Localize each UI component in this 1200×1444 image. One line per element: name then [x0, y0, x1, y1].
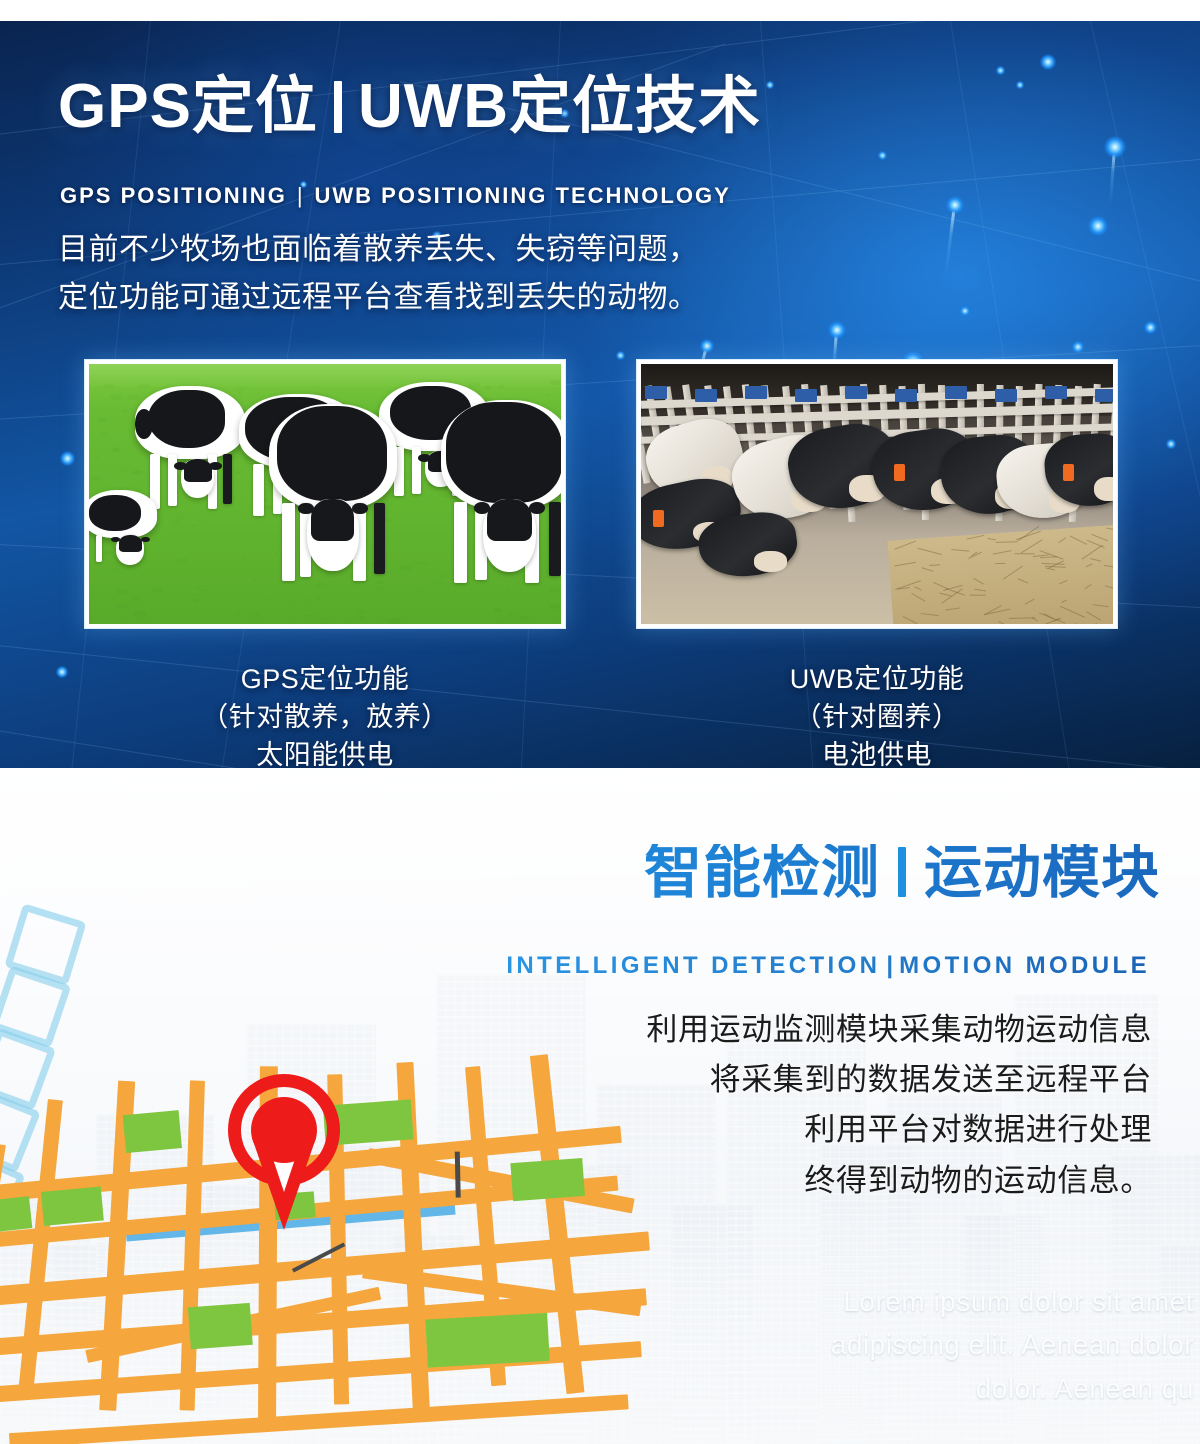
promo-page: GPS定位UWB定位技术 GPS POSITIONING|UWB POSITIO… [0, 0, 1200, 1444]
uwb-photo-barn [636, 359, 1118, 629]
motion-body-line-3: 利用平台对数据进行处理 [0, 1105, 1152, 1155]
gps-photo-caption: GPS定位功能 （针对散养，放养） 太阳能供电 [84, 661, 566, 768]
gps-heading-en: GPS POSITIONING|UWB POSITIONING TECHNOLO… [60, 183, 731, 209]
motion-heading-cn-left: 智能检测 [644, 840, 880, 905]
motion-heading-en-separator: | [886, 952, 893, 979]
uwb-photo-barn-image [641, 364, 1113, 624]
gps-caption-line-1: GPS定位功能 [84, 661, 566, 699]
motion-body-line-1: 利用运动监测模块采集动物运动信息 [0, 1005, 1152, 1055]
gps-photo-pasture [84, 359, 566, 629]
uwb-caption-line-2: （针对圈养） [636, 699, 1118, 737]
gps-photo-pasture-image [89, 364, 561, 624]
motion-body-line-2: 将采集到的数据发送至远程平台 [0, 1055, 1152, 1105]
uwb-photo-caption: UWB定位功能 （针对圈养） 电池供电 [636, 661, 1118, 768]
motion-body-line-4: 终得到动物的运动信息。 [0, 1156, 1152, 1206]
motion-heading-en-left: INTELLIGENT DETECTION [506, 952, 880, 979]
gps-caption-line-2: （针对散养，放养） [84, 699, 566, 737]
barn-illustration [641, 364, 1113, 624]
heading-divider-bar [334, 81, 342, 133]
gps-heading-en-left: GPS POSITIONING [60, 183, 287, 208]
uwb-caption-line-3: 电池供电 [636, 737, 1118, 768]
uwb-caption-line-1: UWB定位功能 [636, 661, 1118, 699]
gps-positioning-section: GPS定位UWB定位技术 GPS POSITIONING|UWB POSITIO… [0, 21, 1200, 768]
gps-paragraph-line-2: 定位功能可通过远程平台查看找到丢失的动物。 [58, 274, 699, 322]
pasture-illustration [89, 364, 561, 624]
top-white-strip [0, 0, 1200, 21]
motion-body-text: 利用运动监测模块采集动物运动信息 将采集到的数据发送至远程平台 利用平台对数据进… [0, 1005, 1152, 1206]
motion-heading-cn: 智能检测运动模块 [0, 844, 1160, 902]
gps-heading-en-right: UWB POSITIONING TECHNOLOGY [315, 183, 731, 208]
motion-heading-cn-right: 运动模块 [924, 840, 1160, 905]
gps-paragraph: 目前不少牧场也面临着散养丢失、失窃等问题， 定位功能可通过远程平台查看找到丢失的… [58, 226, 699, 322]
pasture-horizon [89, 364, 561, 387]
motion-heading-en-right: MOTION MODULE [899, 952, 1150, 979]
gps-heading-cn-left: GPS定位 [58, 72, 318, 141]
gps-heading-cn-right: UWB定位技术 [358, 72, 761, 141]
motion-heading-divider-bar [898, 847, 906, 897]
motion-heading-en: INTELLIGENT DETECTION|MOTION MODULE [0, 952, 1150, 980]
gps-heading-en-separator: | [297, 183, 305, 208]
gps-paragraph-line-1: 目前不少牧场也面临着散养丢失、失窃等问题， [58, 226, 699, 274]
gps-caption-line-3: 太阳能供电 [84, 737, 566, 768]
gps-heading-cn: GPS定位UWB定位技术 [58, 76, 761, 138]
